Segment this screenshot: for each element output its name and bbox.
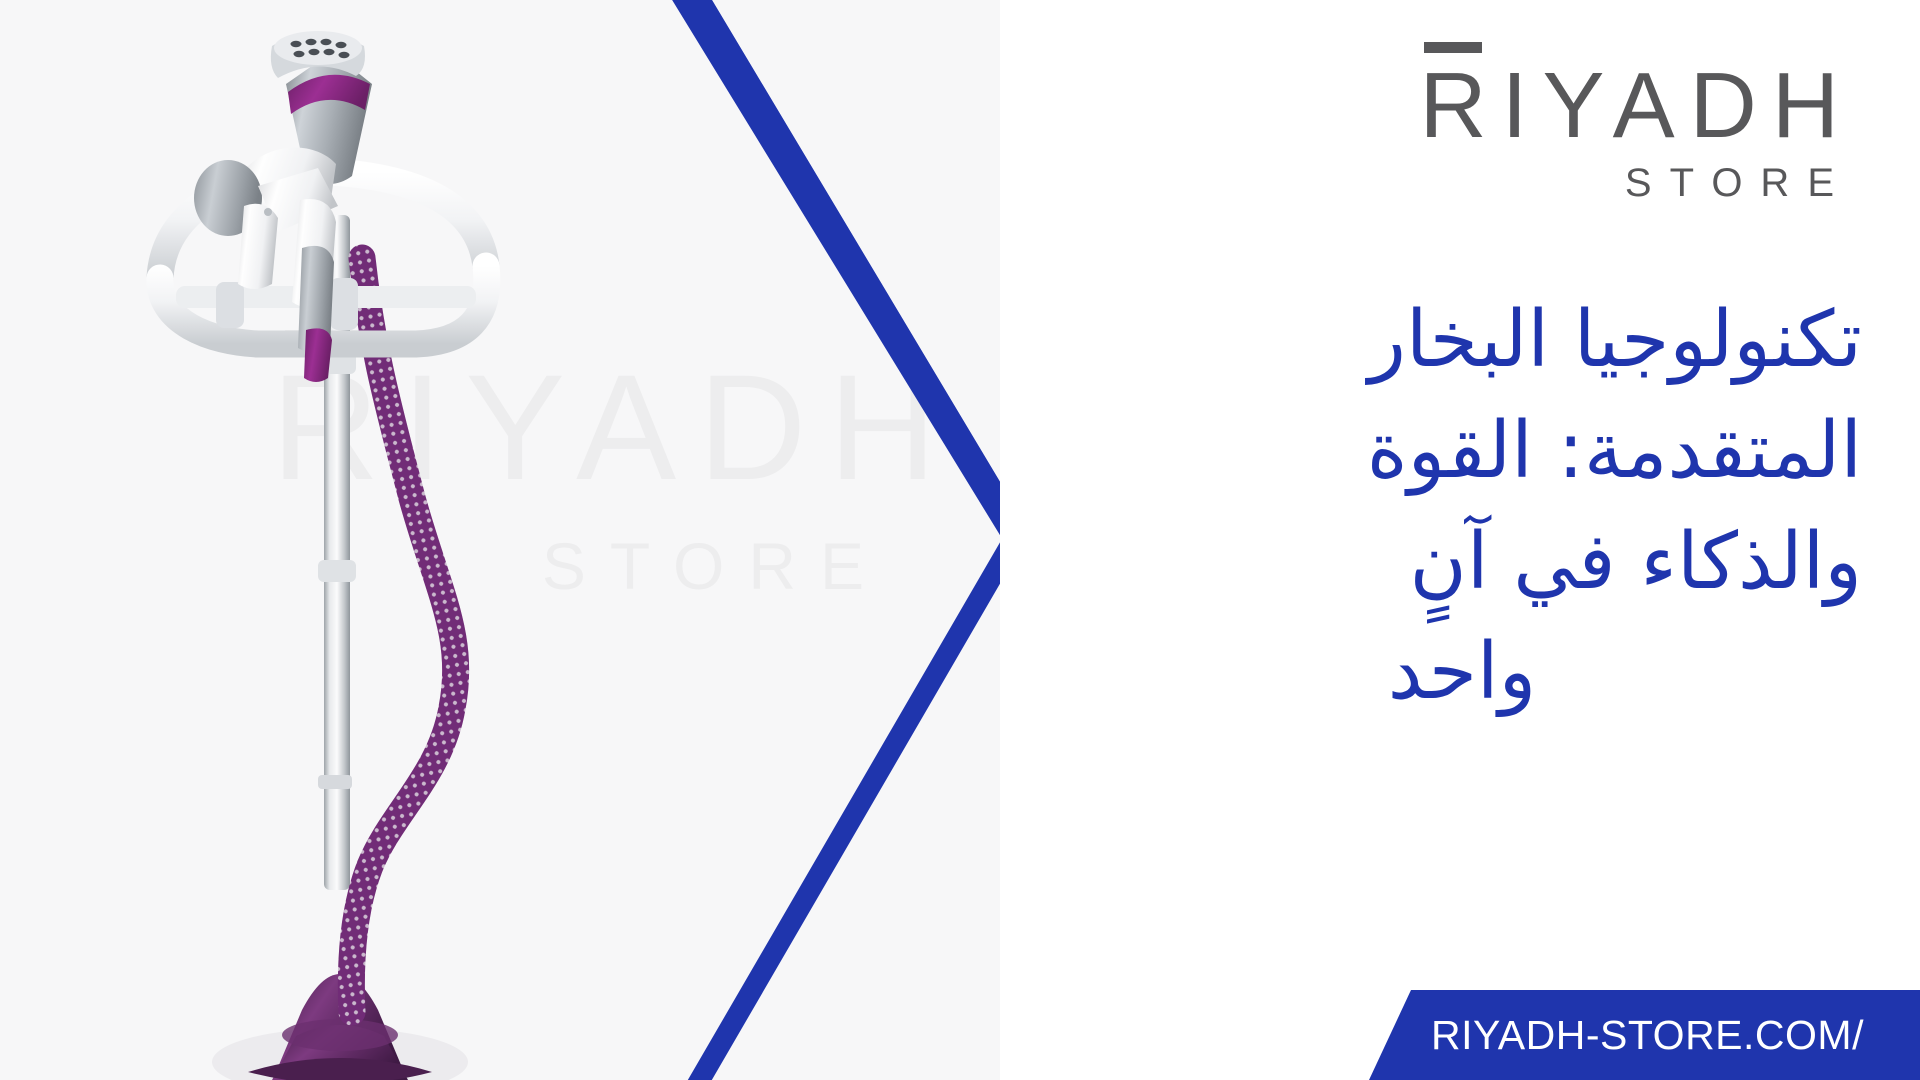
brand-logo[interactable]: RIYADH STORE [1420, 58, 1858, 206]
headline-line-2: المتقدمة: القوة [1062, 396, 1862, 507]
website-url-text: RIYADH-STORE.COM/ [1369, 1012, 1864, 1059]
headline: تكنولوجيا البخار المتقدمة: القوة والذكاء… [1062, 285, 1862, 728]
brand-subtitle: STORE [1420, 161, 1858, 206]
website-url-ribbon[interactable]: RIYADH-STORE.COM/ [1369, 990, 1920, 1080]
brand-wordmark: RIYADH [1420, 58, 1858, 153]
content-panel: RIYADH STORE تكنولوجيا البخار المتقدمة: … [1000, 0, 1920, 1080]
promo-banner: RIYADH STORE [0, 0, 1920, 1080]
headline-line-4: واحد [1062, 617, 1862, 728]
brand-wordmark-text: RIYADH [1420, 53, 1854, 157]
headline-line-1: تكنولوجيا البخار [1062, 285, 1862, 396]
macron-bar-icon [1424, 42, 1482, 53]
headline-line-3: والذكاء في آنٍ [1062, 507, 1862, 618]
